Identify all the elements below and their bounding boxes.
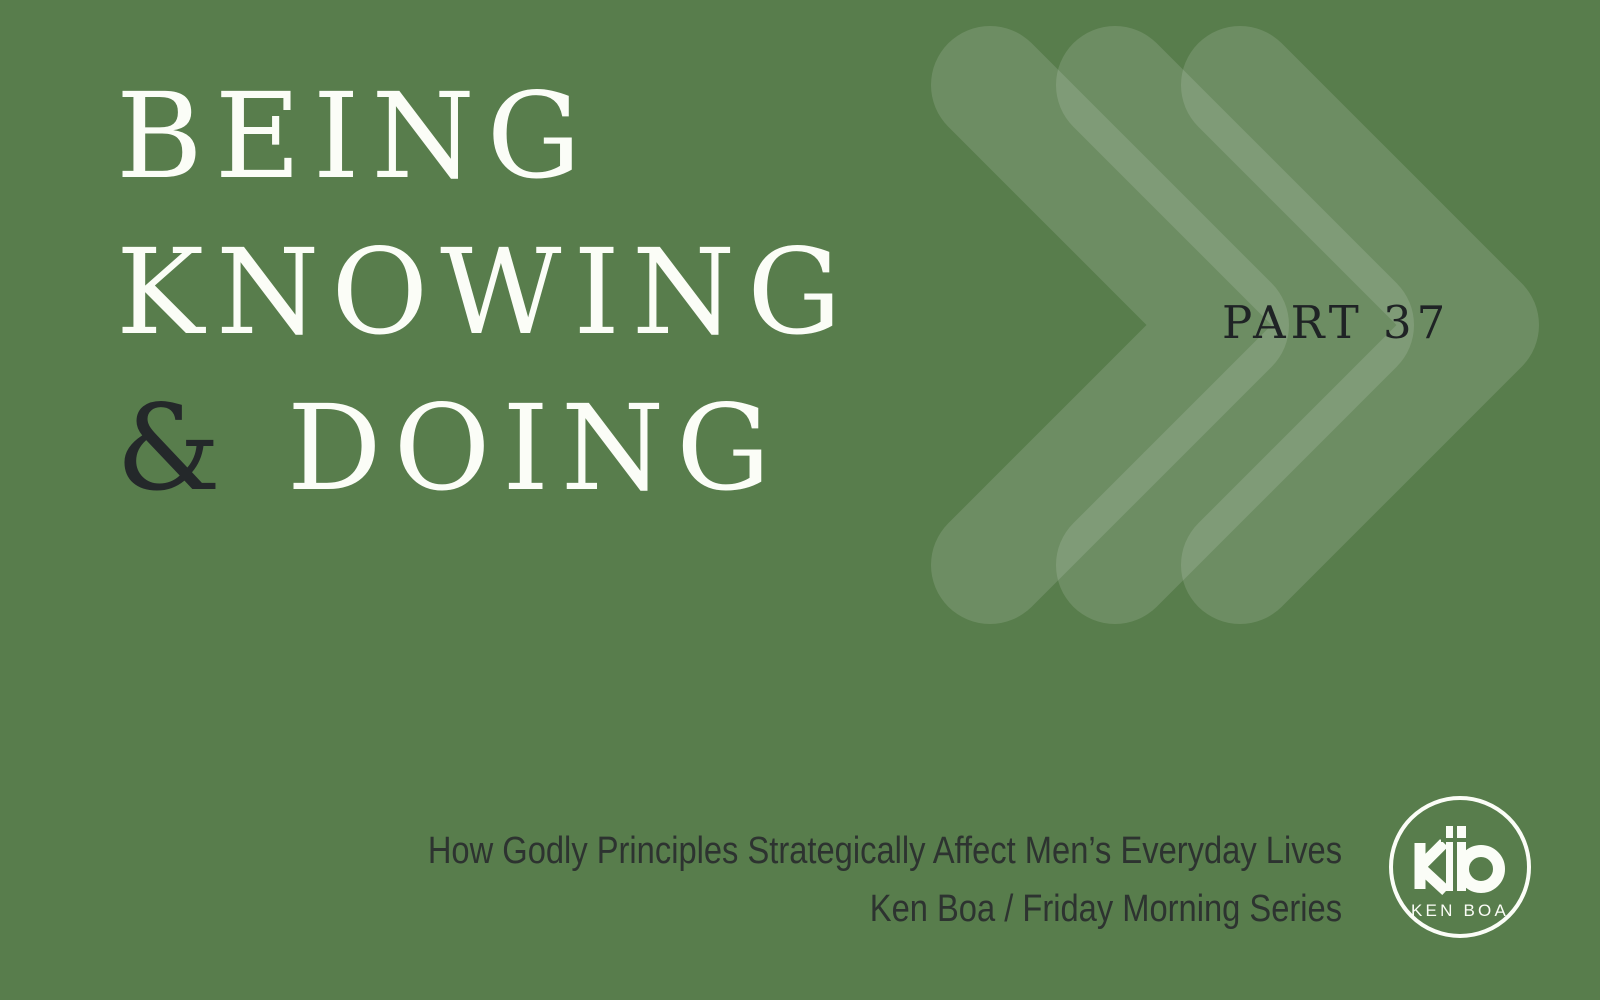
ampersand-glyph: & bbox=[116, 370, 233, 526]
ken-boa-logo: KEN BOA bbox=[1386, 793, 1534, 941]
logo-k-icon bbox=[1420, 843, 1446, 891]
logo-cross-bar-icon bbox=[1441, 838, 1471, 842]
title-line-being: BEING bbox=[112, 58, 1112, 214]
logo-wordmark: KEN BOA bbox=[1411, 901, 1509, 920]
logo-stem-left-icon bbox=[1446, 826, 1453, 891]
slide-canvas: BEING KNOWING & DOING PART 37 How Godly … bbox=[0, 0, 1600, 1000]
logo-b-bowl-icon bbox=[1463, 851, 1499, 887]
footer-block: How Godly Principles Strategically Affec… bbox=[279, 822, 1342, 938]
title-word-doing: DOING bbox=[287, 370, 782, 526]
title-line-knowing: KNOWING bbox=[112, 214, 1112, 370]
footer-speaker-series: Ken Boa / Friday Morning Series bbox=[428, 880, 1342, 938]
part-number-label: PART 37 bbox=[1222, 296, 1450, 349]
footer-subtitle: How Godly Principles Strategically Affec… bbox=[428, 822, 1342, 880]
title-block: BEING KNOWING & DOING bbox=[112, 58, 1112, 526]
title-line-doing: & DOING bbox=[112, 370, 1112, 526]
